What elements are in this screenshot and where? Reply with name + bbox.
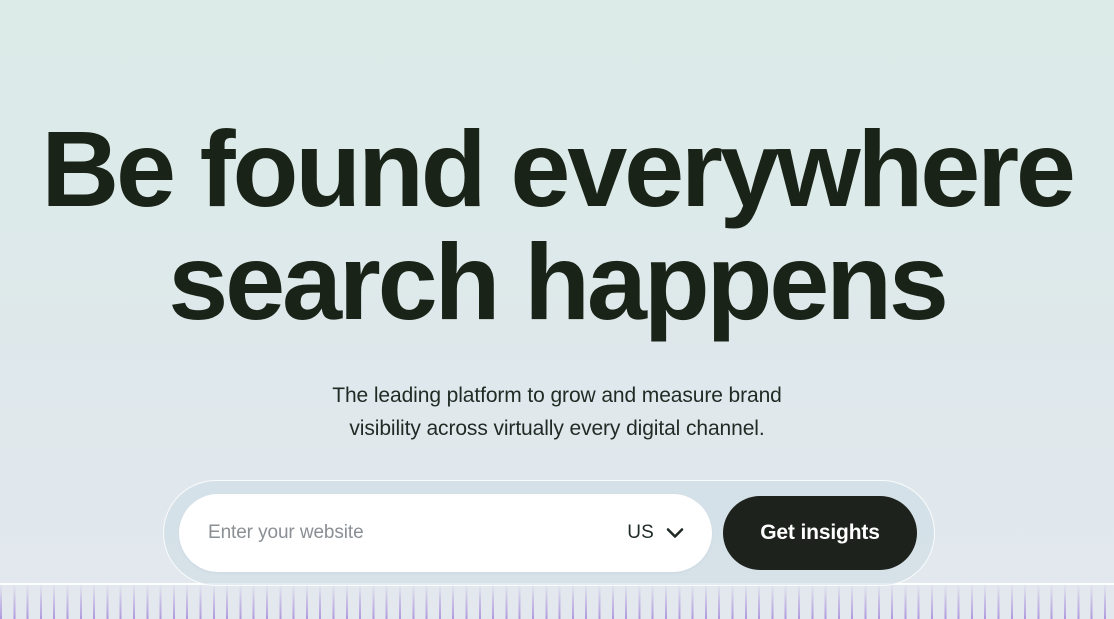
search-field-group[interactable]: US: [179, 494, 712, 572]
country-select-label: US: [627, 522, 654, 544]
chevron-down-icon: [666, 527, 684, 539]
search-bar: US Get insights: [163, 480, 935, 586]
page-title: Be found everywhere search happens: [37, 112, 1077, 338]
website-input[interactable]: [208, 494, 615, 572]
subhead-line-1: The leading platform to grow and measure…: [332, 379, 782, 412]
get-insights-button[interactable]: Get insights: [723, 496, 917, 570]
page-subtitle: The leading platform to grow and measure…: [332, 379, 782, 445]
headline-line-2: search happens: [37, 225, 1077, 338]
hero-section: Be found everywhere search happens The l…: [0, 0, 1114, 619]
country-select[interactable]: US: [615, 516, 694, 550]
subhead-line-2: visibility across virtually every digita…: [332, 412, 782, 445]
headline-line-1: Be found everywhere: [37, 112, 1077, 225]
